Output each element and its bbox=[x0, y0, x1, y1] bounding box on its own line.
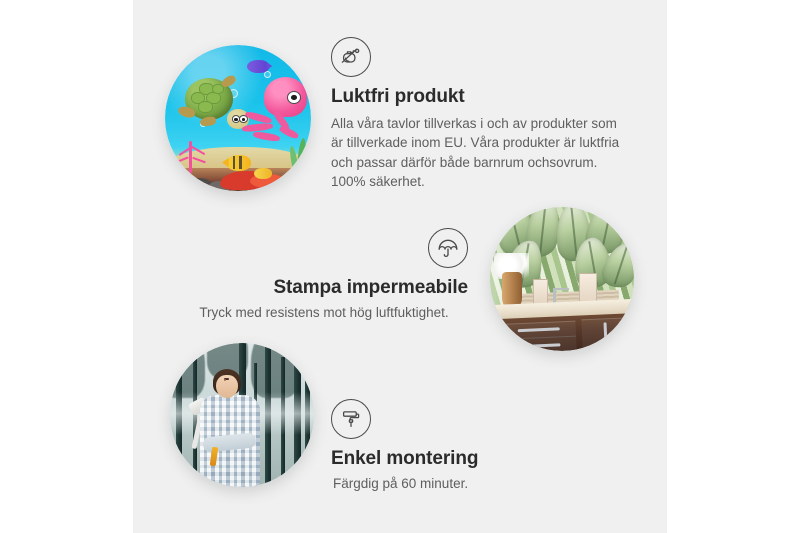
woman-paint-roller-forest-disc bbox=[170, 343, 314, 487]
underwater-cartoon-mural-disc bbox=[165, 45, 311, 191]
feature-description: Tryck med resistens mot hög luftfuktighe… bbox=[180, 303, 468, 323]
product-feature-infographic: Luktfri produkt Alla våra tavlor tillver… bbox=[0, 0, 800, 533]
no-smell-perfume-icon bbox=[331, 37, 371, 77]
paint-roller-icon bbox=[331, 399, 371, 439]
feature-block-assembly: Enkel montering Färgdig på 60 minuter. bbox=[331, 399, 611, 493]
umbrella-icon bbox=[428, 228, 468, 268]
bathroom-tropical-wallpaper-disc bbox=[490, 207, 634, 351]
feature-title: Luktfri produkt bbox=[331, 86, 631, 109]
feature-block-odourless: Luktfri produkt Alla våra tavlor tillver… bbox=[331, 37, 631, 192]
feature-title: Enkel montering bbox=[331, 448, 611, 471]
feature-title: Stampa impermeabile bbox=[180, 277, 468, 300]
feature-block-waterproof: Stampa impermeabile Tryck med resistens … bbox=[180, 228, 468, 322]
feature-description: Alla våra tavlor tillverkas i och av pro… bbox=[331, 114, 631, 192]
feature-description: Färgdig på 60 minuter. bbox=[333, 474, 611, 494]
